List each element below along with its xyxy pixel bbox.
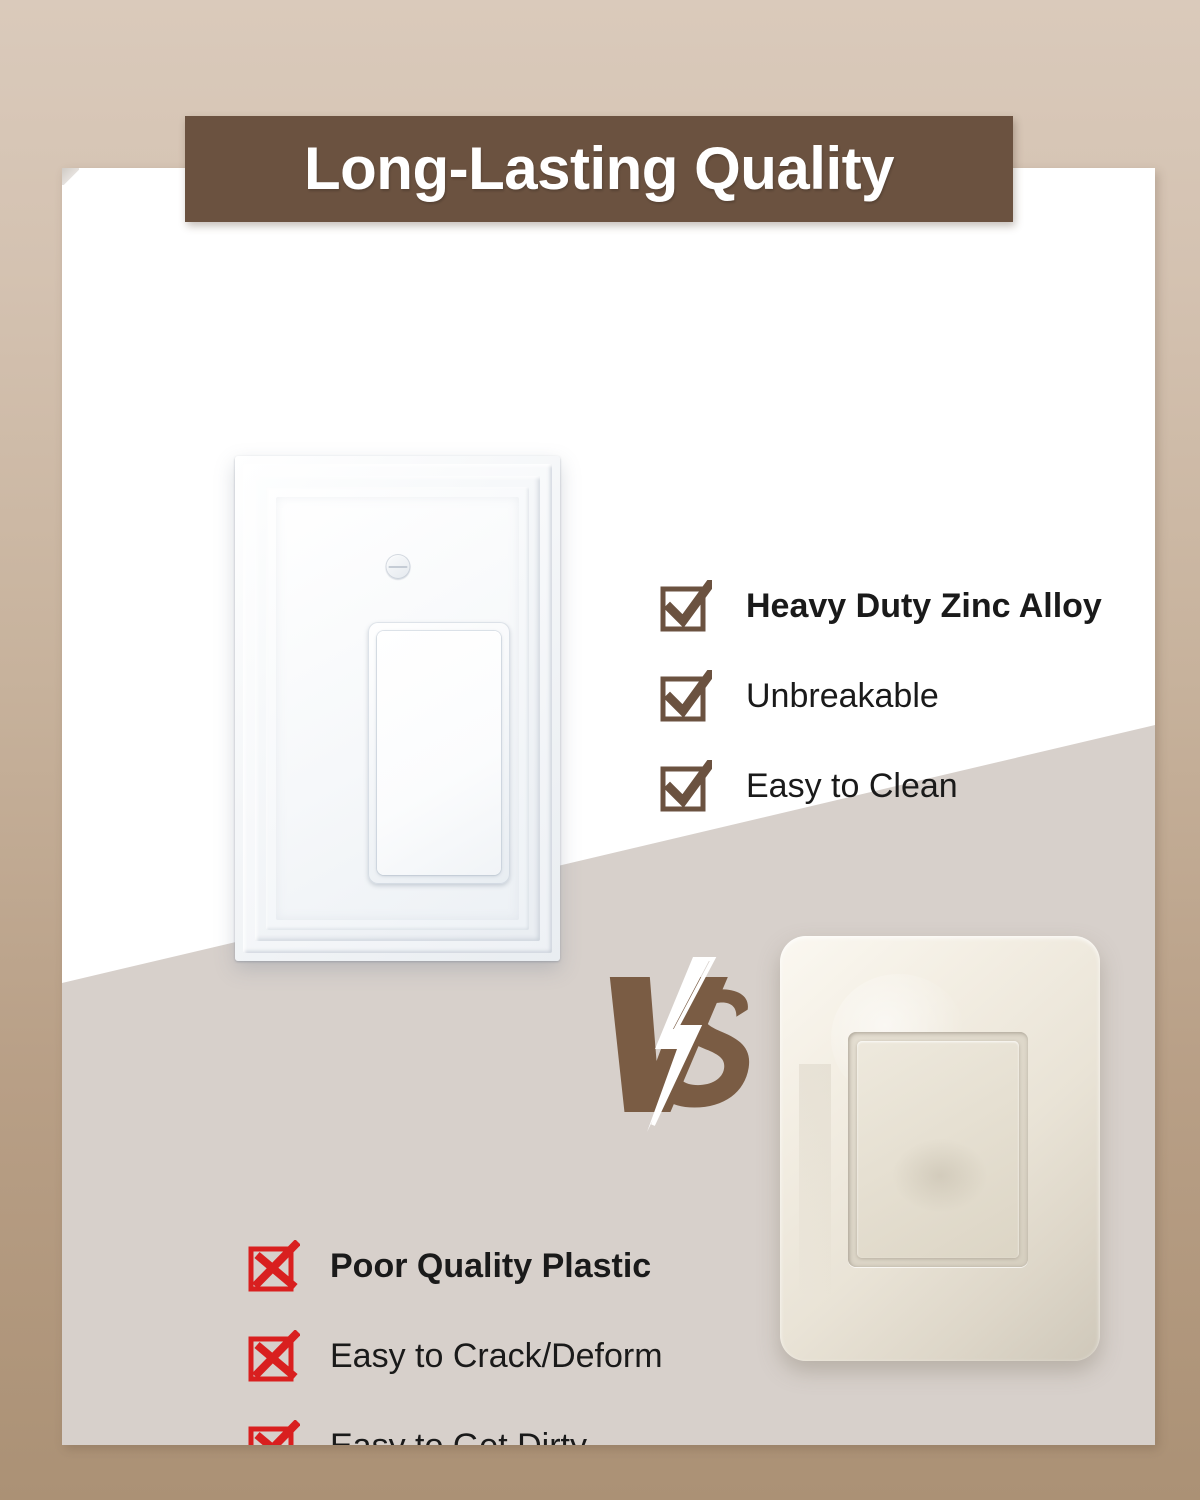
plastic-rocker-bezel xyxy=(848,1032,1028,1267)
list-item: Easy to Clean xyxy=(660,760,1155,812)
list-item: Unbreakable xyxy=(660,670,1155,722)
bad-product-image xyxy=(780,936,1100,1361)
plastic-plate-body xyxy=(780,936,1100,1361)
title-banner: Long-Lasting Quality xyxy=(185,116,1013,222)
checkbox-check-icon xyxy=(660,760,712,812)
list-item: Heavy Duty Zinc Alloy xyxy=(660,580,1155,632)
list-item-label: Heavy Duty Zinc Alloy xyxy=(746,589,1102,623)
vs-lightning-icon xyxy=(581,957,771,1132)
card-corner-fold xyxy=(62,168,79,185)
plastic-rocker-paddle xyxy=(857,1041,1019,1258)
plate-smudge-left xyxy=(799,1064,831,1298)
list-item-label: Easy to Crack/Deform xyxy=(330,1339,663,1373)
screw-icon-top xyxy=(385,554,410,579)
list-item: Easy to Crack/Deform xyxy=(248,1330,768,1382)
list-item-label: Poor Quality Plastic xyxy=(330,1249,651,1283)
list-item-label: Easy to Get Dirty xyxy=(330,1429,587,1445)
list-item: Easy to Get Dirty xyxy=(248,1420,768,1445)
rocker-switch-bezel xyxy=(368,622,510,884)
checkbox-cross-icon xyxy=(248,1240,300,1292)
comparison-card: Heavy Duty Zinc Alloy Unbreakable Easy t… xyxy=(62,168,1155,1445)
plate-face xyxy=(276,497,519,920)
good-product-image xyxy=(235,456,560,961)
checkbox-cross-icon xyxy=(248,1330,300,1382)
page-title: Long-Lasting Quality xyxy=(304,139,894,199)
checkbox-check-icon xyxy=(660,580,712,632)
checkbox-cross-icon xyxy=(248,1420,300,1445)
bad-feature-list: Poor Quality Plastic Easy to Crack/Defor… xyxy=(248,1240,768,1445)
list-item: Poor Quality Plastic xyxy=(248,1240,768,1292)
paddle-dirt-stain xyxy=(893,1139,987,1213)
checkbox-check-icon xyxy=(660,670,712,722)
list-item-label: Unbreakable xyxy=(746,679,939,713)
list-item-label: Easy to Clean xyxy=(746,769,958,803)
good-feature-list: Heavy Duty Zinc Alloy Unbreakable Easy t… xyxy=(660,580,1155,812)
rocker-switch-paddle xyxy=(377,631,501,875)
